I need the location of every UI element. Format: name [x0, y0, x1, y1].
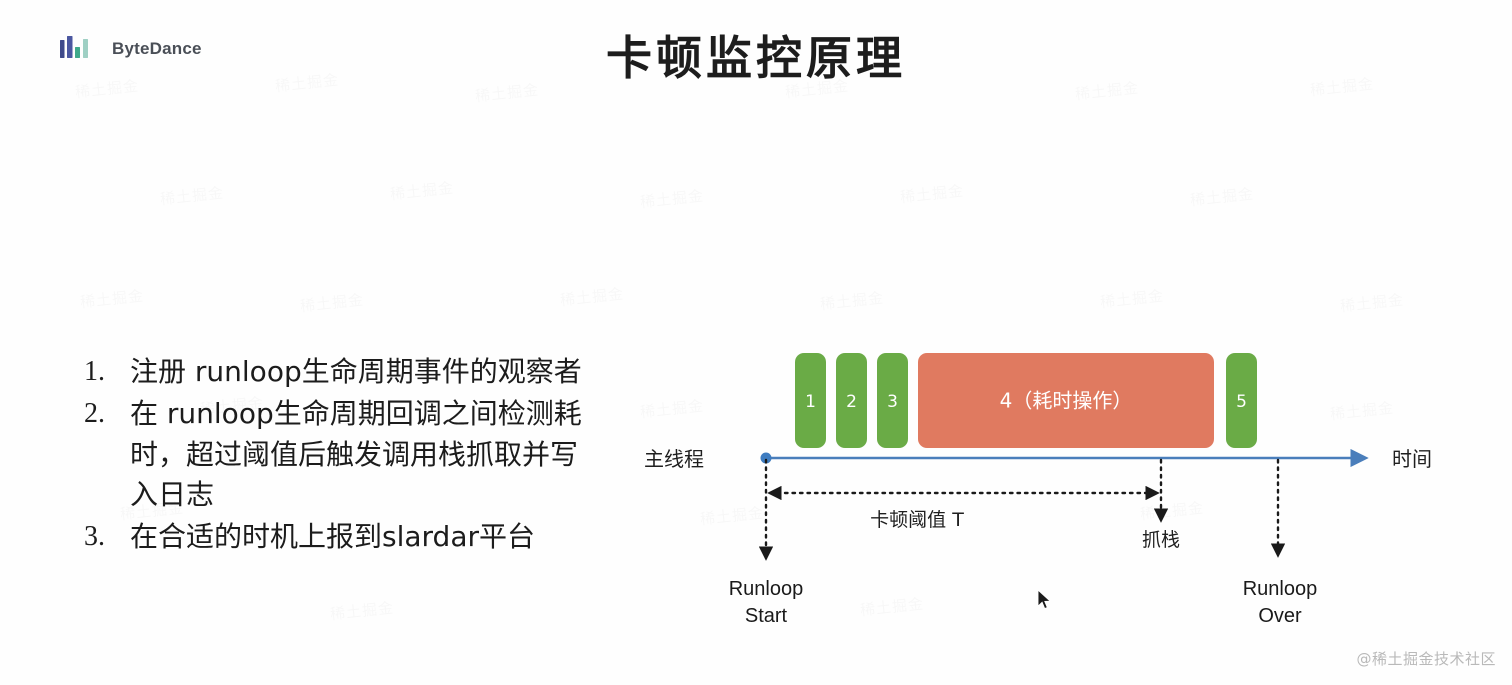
threshold-label: 卡顿阈值 T: [870, 509, 964, 531]
steps-list: 1. 注册 runloop生命周期事件的观察者 2. 在 runloop生命周期…: [84, 352, 604, 560]
runloop-over-label-line2: Over: [1258, 605, 1302, 627]
task-block-4-label: 4（耗时操作）: [1000, 389, 1133, 413]
list-item-text: 在 runloop生命周期回调之间检测耗时，超过阈值后触发调用栈抓取并写入日志: [130, 394, 604, 515]
list-item-text: 在合适的时机上报到slardar平台: [130, 517, 604, 557]
corner-watermark: @稀土掘金技术社区: [1356, 648, 1496, 669]
list-item-number: 1.: [84, 352, 130, 392]
background-watermark: 稀土掘金: [639, 185, 705, 213]
task-block-1-label: 1: [805, 392, 816, 412]
runloop-start-label-line2: Start: [745, 605, 788, 627]
time-axis-label: 时间: [1392, 447, 1432, 471]
background-watermark: 稀土掘金: [1339, 289, 1405, 317]
page-title: 卡顿监控原理: [0, 22, 1512, 88]
slide-canvas: 稀土掘金 稀土掘金 稀土掘金 稀土掘金 稀土掘金 稀土掘金 稀土掘金 稀土掘金 …: [0, 0, 1512, 685]
background-watermark: 稀土掘金: [899, 180, 965, 208]
list-item-text: 注册 runloop生命周期事件的观察者: [130, 352, 604, 392]
background-watermark: 稀土掘金: [329, 597, 395, 625]
task-block-2-label: 2: [846, 392, 857, 412]
capture-stack-label: 抓栈: [1142, 529, 1180, 551]
runloop-timeline-diagram: 1 2 3 4（耗时操作） 5 主线程 时间: [620, 330, 1500, 650]
list-item: 1. 注册 runloop生命周期事件的观察者: [84, 352, 604, 392]
background-watermark: 稀土掘金: [159, 182, 225, 210]
list-item: 2. 在 runloop生命周期回调之间检测耗时，超过阈值后触发调用栈抓取并写入…: [84, 394, 604, 515]
background-watermark: 稀土掘金: [389, 177, 455, 205]
timeline-svg: 1 2 3 4（耗时操作） 5 主线程 时间: [620, 330, 1500, 650]
task-blocks: 1 2 3 4（耗时操作） 5: [795, 353, 1257, 448]
list-item-number: 2.: [84, 394, 130, 434]
runloop-over-label-line1: Runloop: [1243, 578, 1318, 600]
background-watermark: 稀土掘金: [299, 289, 365, 317]
background-watermark: 稀土掘金: [559, 283, 625, 311]
background-watermark: 稀土掘金: [79, 285, 145, 313]
background-watermark: 稀土掘金: [1189, 183, 1255, 211]
background-watermark: 稀土掘金: [819, 287, 885, 315]
main-thread-label: 主线程: [644, 447, 704, 471]
time-axis: [761, 453, 1366, 464]
list-item: 3. 在合适的时机上报到slardar平台: [84, 517, 604, 557]
task-block-5-label: 5: [1236, 392, 1247, 412]
runloop-start-label-line1: Runloop: [729, 578, 804, 600]
list-item-number: 3.: [84, 517, 130, 557]
background-watermark: 稀土掘金: [1099, 285, 1165, 313]
task-block-3-label: 3: [887, 392, 898, 412]
